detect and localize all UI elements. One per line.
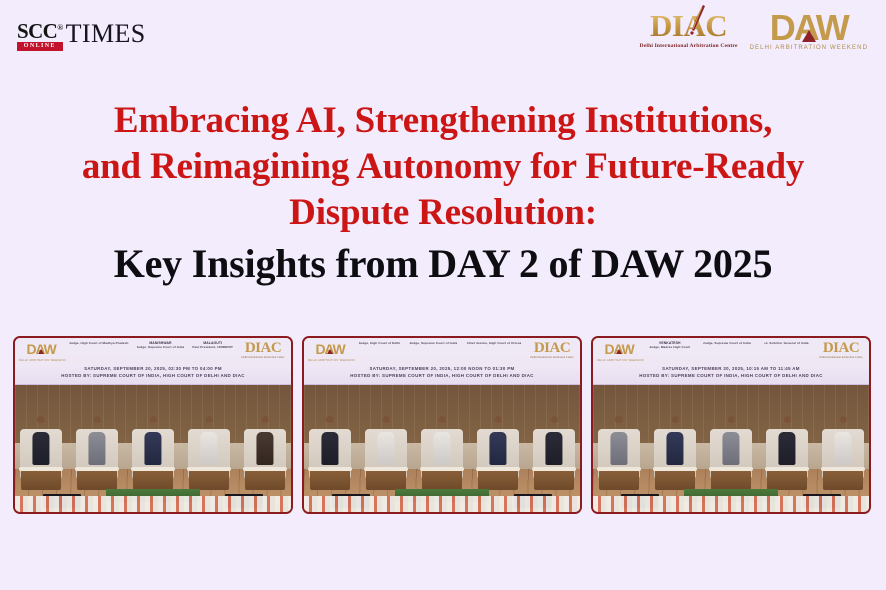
panelist-seat bbox=[531, 413, 577, 492]
backdrop-daw-logo-2: DAW DELHI ARBITRATION WEEKEND bbox=[308, 341, 352, 362]
diac-wordmark: DIAC bbox=[640, 10, 738, 42]
scc-letters: SCC bbox=[17, 19, 57, 43]
backdrop-daw-subtitle-2: DELHI ARBITRATION WEEKEND bbox=[308, 359, 352, 362]
panelist-seat bbox=[363, 413, 409, 492]
speaker-label: Judge, High Court of Madhya Pradesh bbox=[69, 341, 129, 345]
speaker-label: Chief Justice, High Court of Orissa bbox=[467, 341, 522, 345]
stage-flower-bed-3 bbox=[593, 496, 869, 513]
panelist-seat bbox=[820, 413, 866, 492]
session-photo-1[interactable]: DAW DELHI ARBITRATION WEEKEND Judge, Hig… bbox=[13, 336, 293, 514]
panelist-seat bbox=[652, 413, 698, 492]
backdrop-diac-subtitle-1: Delhi International Arbitration Centre bbox=[238, 356, 288, 359]
backdrop-speakers-1: Judge, High Court of Madhya Pradesh MANI… bbox=[65, 341, 237, 349]
panelist-seat bbox=[764, 413, 810, 492]
speaker-label: Ld. Solicitor General of India bbox=[764, 341, 809, 345]
session-host-line-2: HOSTED BY: SUPREME COURT OF INDIA, HIGH … bbox=[304, 372, 580, 379]
daw-wordmark: DAW bbox=[770, 10, 848, 46]
partner-logos: DIAC Delhi International Arbitration Cen… bbox=[640, 10, 868, 51]
title-line-4: Key Insights from DAY 2 of DAW 2025 bbox=[0, 238, 886, 290]
stage-flower-bed-2 bbox=[304, 496, 580, 513]
panelist-seat bbox=[475, 413, 521, 492]
session-time-line-1: SATURDAY, SEPTEMBER 20, 2025, 02:30 PM T… bbox=[15, 365, 291, 372]
backdrop-daw-subtitle-1: DELHI ARBITRATION WEEKEND bbox=[19, 359, 63, 362]
panelist-row-3 bbox=[596, 413, 866, 492]
stage-backdrop-2: DAW DELHI ARBITRATION WEEKEND Judge, Hig… bbox=[304, 338, 580, 385]
backdrop-diac-subtitle-3: Delhi International Arbitration Centre bbox=[816, 356, 866, 359]
panelist-row-1 bbox=[18, 413, 288, 492]
speaker-label: MALAGUTIPast President, UNIDROIT bbox=[192, 341, 233, 349]
backdrop-speakers-3: VENKATESHJudge, Madras High Court Judge,… bbox=[643, 341, 815, 349]
session-photo-2[interactable]: DAW DELHI ARBITRATION WEEKEND Judge, Hig… bbox=[302, 336, 582, 514]
backdrop-diac-logo-2: DIAC Delhi International Arbitration Cen… bbox=[527, 341, 577, 359]
backdrop-daw-triangle-icon-1 bbox=[38, 349, 44, 354]
registered-mark-icon: ® bbox=[57, 23, 62, 32]
session-time-line-3: SATURDAY, SEPTEMBER 20, 2025, 10:15 AM T… bbox=[593, 365, 869, 372]
backdrop-speakers-2: Judge, High Court of Delhi Judge, Suprem… bbox=[354, 341, 526, 345]
title-line-2: and Reimagining Autonomy for Future-Read… bbox=[0, 144, 886, 190]
panelist-seat bbox=[18, 413, 64, 492]
stage-backdrop-1: DAW DELHI ARBITRATION WEEKEND Judge, Hig… bbox=[15, 338, 291, 385]
scc-mark: SCC® ONLINE bbox=[17, 22, 63, 51]
panelist-seat bbox=[708, 413, 754, 492]
backdrop-diac-logo-1: DIAC Delhi International Arbitration Cen… bbox=[238, 341, 288, 359]
session-photo-3[interactable]: DAW DELHI ARBITRATION WEEKEND VENKATESHJ… bbox=[591, 336, 871, 514]
title-line-3: Dispute Resolution: bbox=[0, 190, 886, 236]
panelist-seat bbox=[130, 413, 176, 492]
backdrop-daw-triangle-icon-3 bbox=[616, 349, 622, 354]
backdrop-time-3: SATURDAY, SEPTEMBER 20, 2025, 10:15 AM T… bbox=[593, 365, 869, 379]
speaker-label: Judge, Supreme Court of India bbox=[703, 341, 751, 345]
backdrop-diac-letters-1: DIAC bbox=[238, 341, 288, 356]
speaker-label: MANISHWARJudge, Supreme Court of India bbox=[137, 341, 185, 349]
daw-logo[interactable]: DAW DELHI ARBITRATION WEEKEND bbox=[750, 10, 868, 51]
backdrop-daw-triangle-icon-2 bbox=[327, 349, 333, 354]
diac-logo[interactable]: DIAC Delhi International Arbitration Cen… bbox=[640, 10, 738, 49]
backdrop-diac-logo-3: DIAC Delhi International Arbitration Cen… bbox=[816, 341, 866, 359]
backdrop-diac-letters-2: DIAC bbox=[527, 341, 577, 356]
stage-flower-bed-1 bbox=[15, 496, 291, 513]
panelist-seat bbox=[419, 413, 465, 492]
backdrop-daw-subtitle-3: DELHI ARBITRATION WEEKEND bbox=[597, 359, 641, 362]
page-title: Embracing AI, Strengthening Institutions… bbox=[0, 98, 886, 290]
times-wordmark: TIMES bbox=[66, 20, 146, 47]
scc-wordmark: SCC® bbox=[17, 22, 63, 41]
backdrop-daw-logo-3: DAW DELHI ARBITRATION WEEKEND bbox=[597, 341, 641, 362]
session-photo-strip: DAW DELHI ARBITRATION WEEKEND Judge, Hig… bbox=[13, 336, 873, 514]
speaker-label: Judge, Supreme Court of India bbox=[409, 341, 457, 345]
stage-area-3 bbox=[593, 385, 869, 512]
backdrop-diac-subtitle-2: Delhi International Arbitration Centre bbox=[527, 356, 577, 359]
session-host-line-3: HOSTED BY: SUPREME COURT OF INDIA, HIGH … bbox=[593, 372, 869, 379]
panelist-seat bbox=[74, 413, 120, 492]
panelist-seat bbox=[307, 413, 353, 492]
panelist-seat bbox=[186, 413, 232, 492]
speaker-label: VENKATESHJudge, Madras High Court bbox=[649, 341, 690, 349]
panelist-seat bbox=[596, 413, 642, 492]
title-line-1: Embracing AI, Strengthening Institutions… bbox=[0, 98, 886, 144]
panelist-row-2 bbox=[307, 413, 577, 492]
page-header: SCC® ONLINE TIMES DIAC Delhi Internation… bbox=[0, 0, 886, 72]
session-host-line-1: HOSTED BY: SUPREME COURT OF INDIA, HIGH … bbox=[15, 372, 291, 379]
stage-backdrop-3: DAW DELHI ARBITRATION WEEKEND VENKATESHJ… bbox=[593, 338, 869, 385]
daw-triangle-accent-icon bbox=[802, 30, 816, 42]
diac-subtitle: Delhi International Arbitration Centre bbox=[640, 43, 738, 49]
backdrop-time-1: SATURDAY, SEPTEMBER 20, 2025, 02:30 PM T… bbox=[15, 365, 291, 379]
stage-area-2 bbox=[304, 385, 580, 512]
scc-online-times-logo[interactable]: SCC® ONLINE TIMES bbox=[17, 22, 146, 51]
panelist-seat bbox=[242, 413, 288, 492]
scc-online-banner: ONLINE bbox=[17, 42, 63, 51]
backdrop-time-2: SATURDAY, SEPTEMBER 20, 2025, 12:00 NOON… bbox=[304, 365, 580, 379]
session-time-line-2: SATURDAY, SEPTEMBER 20, 2025, 12:00 NOON… bbox=[304, 365, 580, 372]
stage-area-1 bbox=[15, 385, 291, 512]
speaker-label: Judge, High Court of Delhi bbox=[359, 341, 401, 345]
backdrop-daw-logo-1: DAW DELHI ARBITRATION WEEKEND bbox=[19, 341, 63, 362]
backdrop-diac-letters-3: DIAC bbox=[816, 341, 866, 356]
